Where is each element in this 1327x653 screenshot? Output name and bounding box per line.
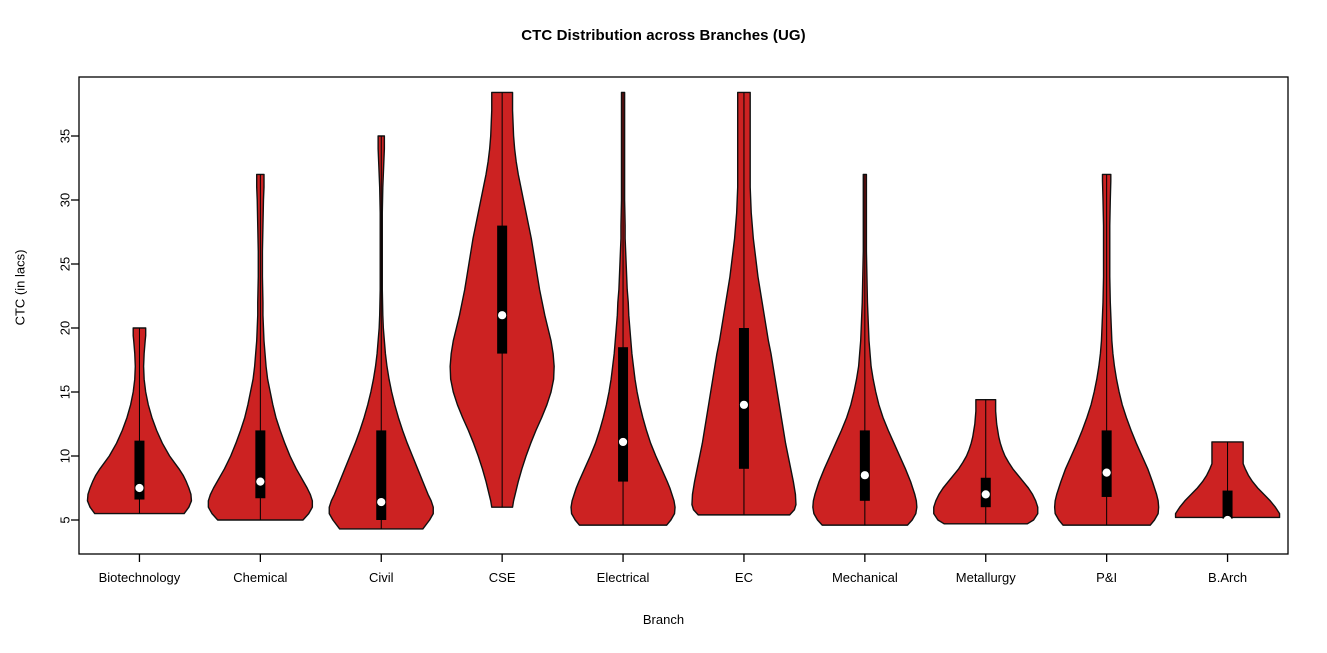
violin-electrical xyxy=(571,92,675,525)
violin-plot-svg: 5101520253035BiotechnologyChemicalCivilC… xyxy=(0,0,1327,653)
median-marker xyxy=(1103,469,1111,477)
iqr-box xyxy=(1102,430,1112,497)
violin-group xyxy=(87,92,1279,528)
iqr-box xyxy=(255,430,265,498)
x-tick-label: CSE xyxy=(489,570,516,585)
x-tick-label: Chemical xyxy=(233,570,287,585)
y-tick-label: 35 xyxy=(58,129,73,143)
iqr-box xyxy=(618,347,628,481)
median-marker xyxy=(135,484,143,492)
iqr-box xyxy=(739,328,749,469)
y-tick-label: 10 xyxy=(58,449,73,463)
chart-canvas: CTC Distribution across Branches (UG) CT… xyxy=(0,0,1327,653)
violin-p-i xyxy=(1055,174,1159,525)
x-tick-label: Mechanical xyxy=(832,570,898,585)
violin-ec xyxy=(692,92,796,514)
y-tick-label: 25 xyxy=(58,257,73,271)
x-tick-label: Biotechnology xyxy=(99,570,181,585)
violin-chemical xyxy=(208,174,312,520)
median-marker xyxy=(740,401,748,409)
y-tick-label: 20 xyxy=(58,321,73,335)
violin-biotechnology xyxy=(87,328,191,514)
x-tick-label: B.Arch xyxy=(1208,570,1247,585)
violin-b-arch xyxy=(1176,442,1280,524)
violin-civil xyxy=(329,136,433,529)
median-marker xyxy=(861,471,869,479)
y-tick-label: 15 xyxy=(58,385,73,399)
median-marker xyxy=(1223,516,1231,524)
median-marker xyxy=(498,311,506,319)
iqr-box xyxy=(497,226,507,354)
x-tick-label: Civil xyxy=(369,570,394,585)
median-marker xyxy=(982,490,990,498)
violin-metallurgy xyxy=(934,400,1038,524)
iqr-box xyxy=(860,430,870,500)
x-tick-label: P&I xyxy=(1096,570,1117,585)
y-tick-label: 5 xyxy=(58,516,73,523)
median-marker xyxy=(619,438,627,446)
median-marker xyxy=(377,498,385,506)
y-tick-label: 30 xyxy=(58,193,73,207)
iqr-box xyxy=(376,430,386,520)
x-tick-label: EC xyxy=(735,570,753,585)
x-tick-label: Electrical xyxy=(597,570,650,585)
iqr-box xyxy=(1223,491,1233,519)
x-tick-label: Metallurgy xyxy=(956,570,1016,585)
median-marker xyxy=(256,478,264,486)
violin-cse xyxy=(450,92,554,507)
violin-mechanical xyxy=(813,174,917,525)
